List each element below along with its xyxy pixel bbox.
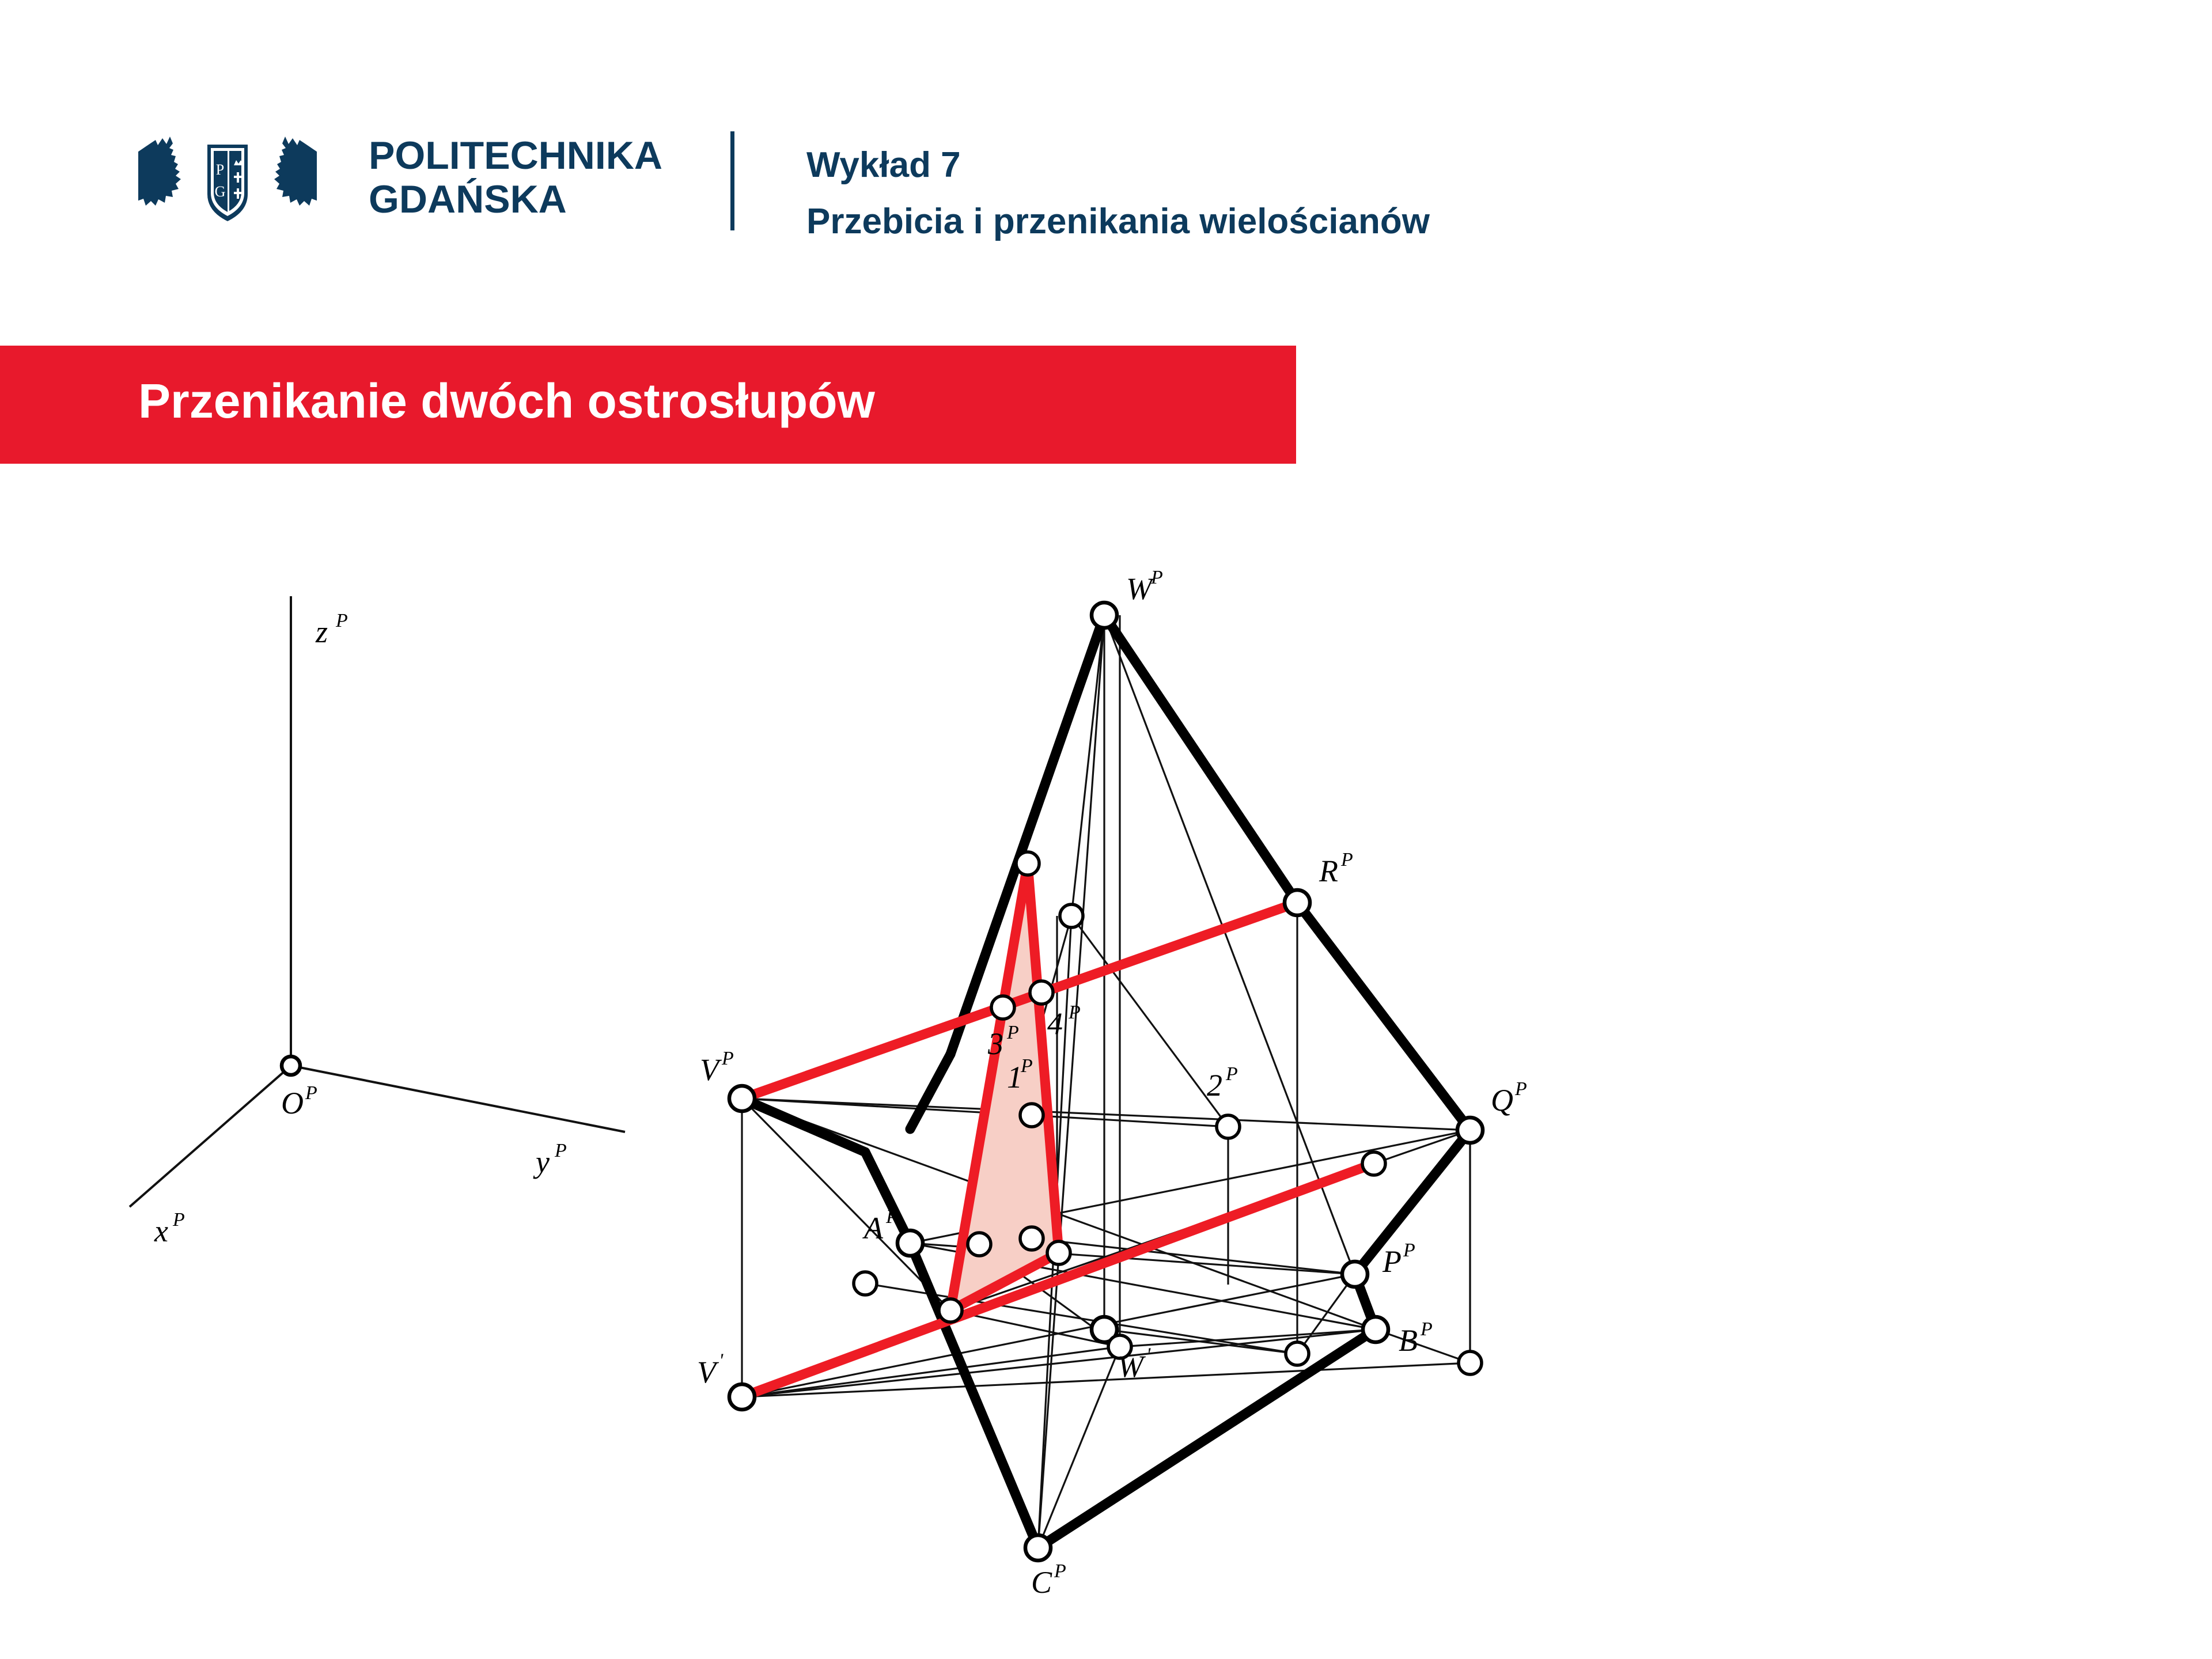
label-B-proj: B P [1399, 1319, 1433, 1358]
label-A-proj: A P [862, 1206, 898, 1245]
label-W-prime-sup: ʹ [1146, 1344, 1151, 1366]
label-A-proj-base: A [862, 1211, 884, 1245]
label-A-proj-sup: P [885, 1206, 898, 1228]
university-name: POLITECHNIKA GDAŃSKA [369, 134, 662, 221]
label-V-proj-sup: P [721, 1048, 734, 1069]
label-C-proj-base: C [1031, 1565, 1052, 1600]
label-B-proj-base: B [1399, 1323, 1418, 1358]
svg-text:P: P [216, 161, 224, 178]
svg-text:G: G [215, 183, 226, 200]
fan-W-to-Pprime [1104, 615, 1355, 1274]
label-P-proj: P P [1382, 1240, 1415, 1279]
label-C-proj-sup: P [1054, 1560, 1066, 1582]
vertex-W-proj [1092, 603, 1117, 628]
label-1-proj-base: 1 [1007, 1060, 1022, 1094]
label-W-proj: W P [1126, 567, 1163, 606]
vertex-B-proj [1363, 1317, 1388, 1342]
axis-label-y: y P [533, 1140, 567, 1179]
slide-page: P G POLITECHNIKA GDAŃSKA Wykł [0, 0, 2212, 1659]
label-V-prime-sup: ʹ [719, 1350, 724, 1372]
label-Q-proj: Q P [1491, 1078, 1527, 1118]
coordinate-axes: z P O P y P x P [130, 596, 625, 1248]
axis-label-x-base: x [154, 1214, 168, 1248]
label-4-proj-base: 4 [1047, 1006, 1063, 1041]
edge-B-to-C [1038, 1330, 1376, 1548]
label-B-proj-sup: P [1420, 1319, 1433, 1340]
slide-header: P G POLITECHNIKA GDAŃSKA Wykł [0, 0, 2212, 300]
aux-point-R-prime [1286, 1342, 1309, 1365]
vertex-labels: W P R P V P Q P 2 P [697, 567, 1527, 1600]
ground-cross-6 [742, 1099, 950, 1310]
axis-x-line [130, 1066, 291, 1207]
construction-lines [742, 615, 1470, 1548]
label-V-prime-base: V [697, 1355, 719, 1389]
label-4-proj: 4 P [1047, 1002, 1081, 1041]
label-Q-proj-sup: P [1514, 1078, 1527, 1100]
aux-point-base-low [939, 1299, 962, 1322]
label-R-proj-sup: P [1340, 849, 1353, 870]
vertex-markers [729, 603, 1483, 1560]
edge-W-to-R [1104, 615, 1297, 903]
vertical-divider [730, 131, 734, 230]
axis-label-z-base: z [315, 615, 328, 649]
axis-label-z-sup: P [335, 610, 348, 631]
label-R-proj-base: R [1319, 854, 1338, 888]
label-V-proj: V P [700, 1048, 734, 1087]
axis-label-z: z P [315, 610, 348, 649]
label-4-proj-sup: P [1068, 1002, 1081, 1023]
edge-R-to-Q [1297, 903, 1470, 1130]
label-2-proj: 2 P [1207, 1063, 1238, 1103]
technical-drawing: .thin { stroke:#111; stroke-width:3.2; f… [0, 478, 2212, 1659]
label-Q-proj-base: Q [1491, 1083, 1513, 1118]
fan-Wm-to-base [1071, 916, 1228, 1127]
aux-point-Q-prime [1459, 1351, 1482, 1374]
axis-label-y-base: y [533, 1145, 550, 1179]
vertex-V-prime [729, 1384, 755, 1410]
point-1-proj [1020, 1104, 1043, 1127]
label-W-prime-base: W [1118, 1349, 1146, 1384]
label-2-proj-sup: P [1225, 1063, 1238, 1085]
axis-label-origin: O P [281, 1082, 317, 1120]
aux-point-red-apex [1016, 852, 1039, 875]
label-W-proj-sup: P [1150, 567, 1163, 588]
university-name-line2: GDAŃSKA [369, 177, 662, 221]
vertex-R-proj [1285, 890, 1310, 915]
label-P-proj-base: P [1382, 1244, 1402, 1279]
label-C-proj: C P [1031, 1560, 1066, 1600]
label-3-proj-base: 3 [987, 1027, 1003, 1061]
section-title-bar: Przenikanie dwóch ostrosłupów [0, 346, 1296, 464]
aux-point-base-mid [968, 1233, 991, 1256]
ground-R-to-P [1297, 1274, 1355, 1354]
label-2-proj-base: 2 [1207, 1068, 1222, 1103]
label-R-proj: R P [1319, 849, 1353, 888]
vertex-A-proj [897, 1230, 923, 1256]
ground-B-to-Wp [1120, 1330, 1376, 1347]
axis-label-y-sup: P [554, 1140, 567, 1161]
aux-point-base-left [854, 1272, 877, 1295]
axis-label-origin-base: O [281, 1086, 304, 1120]
aux-point-red-low [1020, 1227, 1043, 1250]
university-name-line1: POLITECHNIKA [369, 134, 662, 177]
label-V-proj-base: V [700, 1052, 722, 1087]
vertex-C-proj [1025, 1535, 1051, 1560]
label-1-proj-sup: P [1020, 1055, 1033, 1077]
axis-origin-point [282, 1056, 300, 1075]
point-4-proj [1030, 981, 1053, 1004]
edge-left-slope [910, 1054, 950, 1129]
vertex-Q-proj [1457, 1118, 1483, 1143]
point-2-proj [1217, 1115, 1240, 1138]
label-V-prime: V ʹ [697, 1350, 724, 1389]
edge-V-to-mid [742, 1099, 865, 1152]
pyramid-edges-black [742, 615, 1470, 1548]
fan-V-to-Q [742, 1099, 1470, 1130]
section-title-text: Przenikanie dwóch ostrosłupów [138, 373, 875, 429]
aux-point-red-right [1047, 1241, 1070, 1264]
lecture-heading: Wykład 7 Przebicia i przenikania wielośc… [806, 137, 1430, 250]
axis-label-x-sup: P [172, 1209, 185, 1230]
pg-coat-of-arms-logo: P G [138, 124, 317, 230]
vertex-P-proj [1342, 1262, 1368, 1287]
label-P-proj-sup: P [1403, 1240, 1415, 1261]
point-3-proj [991, 996, 1014, 1019]
label-3-proj-sup: P [1006, 1022, 1019, 1043]
lecture-subtitle: Przebicia i przenikania wielościanów [806, 194, 1430, 250]
vertex-V-proj [729, 1086, 755, 1111]
axis-y-line [291, 1066, 625, 1132]
aux-point-red-end [1362, 1152, 1385, 1175]
axis-label-x: x P [154, 1209, 185, 1248]
aux-point-W-mid [1060, 904, 1083, 927]
lecture-number: Wykład 7 [806, 145, 961, 185]
axis-label-origin-sup: P [305, 1082, 317, 1104]
